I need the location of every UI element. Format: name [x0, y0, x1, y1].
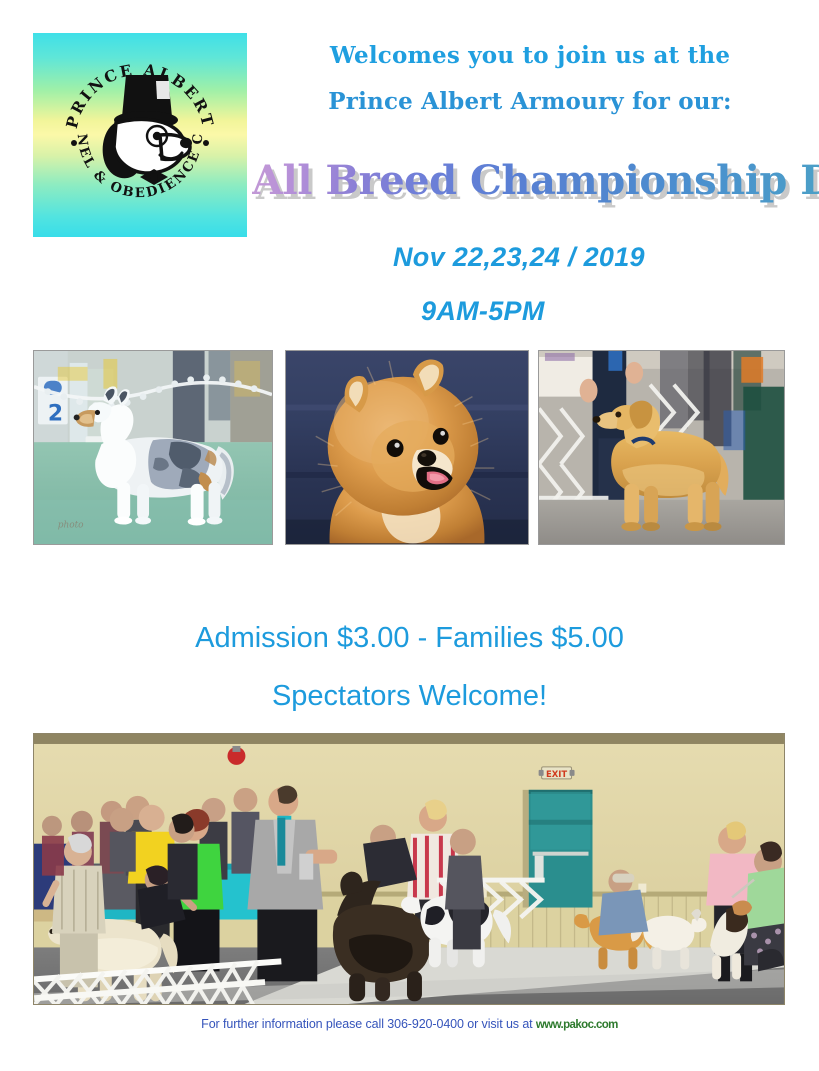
photo-strip: 2: [33, 350, 785, 545]
page-title: All Breed Championship Dog Show All Bree…: [252, 156, 810, 208]
photo-golden-retriever: [538, 350, 785, 545]
svg-text:2: 2: [48, 401, 63, 426]
spectators-welcome: Spectators Welcome!: [0, 680, 819, 713]
welcome-line-2: Prince Albert Armoury for our:: [300, 79, 760, 125]
club-logo: PRINCE ALBERT KENNEL & OBEDIENCE CLUB: [33, 33, 247, 237]
admission-prices: Admission $3.00 - Families $5.00: [0, 622, 819, 655]
event-hours: 9AM-5PM: [421, 296, 545, 327]
photo-show-ring-overview: EXIT: [33, 733, 785, 1005]
dog-show-poster: PRINCE ALBERT KENNEL & OBEDIENCE CLUB: [0, 0, 819, 1071]
club-emblem-icon: PRINCE ALBERT KENNEL & OBEDIENCE CLUB: [56, 51, 224, 219]
photo-sheltie-blue-merle: 2: [33, 350, 273, 545]
photo-pomeranian: [285, 350, 529, 545]
website-link[interactable]: www.pakoc.com: [536, 1019, 618, 1031]
svg-text:EXIT: EXIT: [546, 769, 567, 779]
welcome-heading: Welcomes you to join us at the Prince Al…: [300, 33, 760, 125]
svg-text:photo: photo: [58, 521, 84, 531]
event-dates: Nov 22,23,24 / 2019: [393, 242, 645, 273]
page-title-text: All Breed Championship Dog Show: [252, 157, 819, 204]
welcome-line-1: Welcomes you to join us at the: [300, 33, 760, 79]
contact-text: For further information please call 306-…: [201, 1017, 536, 1031]
contact-footer: For further information please call 306-…: [0, 1017, 819, 1031]
